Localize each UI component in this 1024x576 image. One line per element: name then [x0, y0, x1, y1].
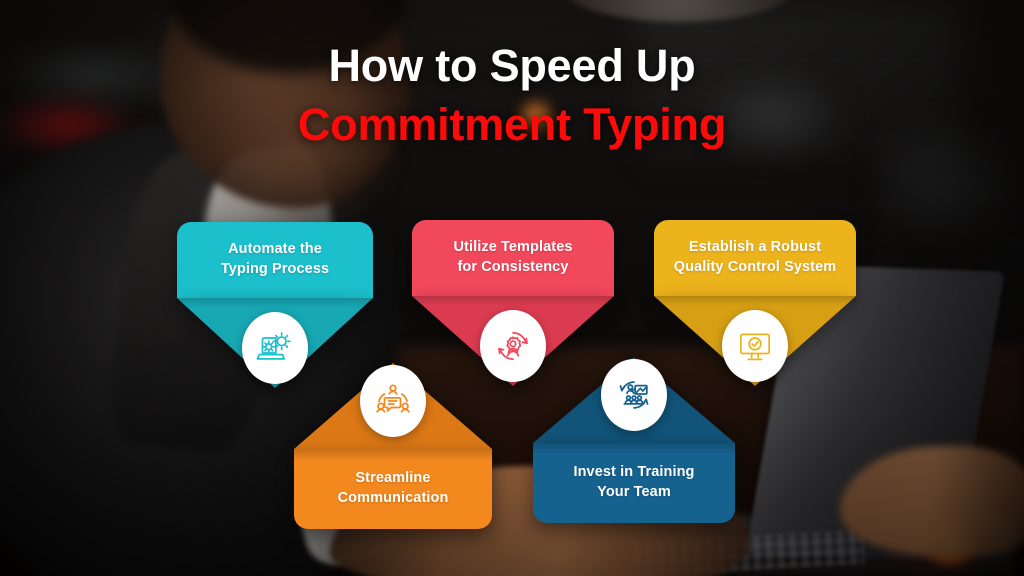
card-automate-typing-label: Automate the Typing Process	[211, 240, 339, 279]
card-quality-control-banner: Establish a Robust Quality Control Syste…	[654, 220, 856, 296]
headline-line-2: Commitment Typing	[0, 101, 1024, 150]
people-chat-icon	[360, 365, 426, 437]
card-streamline-communication-banner: Streamline Communication	[294, 449, 492, 529]
headline: How to Speed Up Commitment Typing	[0, 42, 1024, 149]
card-quality-control-label: Establish a Robust Quality Control Syste…	[664, 238, 847, 277]
infographic-canvas: How to Speed Up Commitment Typing Automa…	[0, 0, 1024, 576]
headline-line-1: How to Speed Up	[0, 42, 1024, 91]
card-utilize-templates-banner: Utilize Templates for Consistency	[412, 220, 614, 296]
card-invest-training-banner: Invest in Training Your Team	[533, 443, 735, 523]
card-utilize-templates-label: Utilize Templates for Consistency	[443, 238, 582, 277]
card-automate-typing-banner: Automate the Typing Process	[177, 222, 373, 298]
card-streamline-communication-label: Streamline Communication	[328, 469, 459, 508]
card-invest-training-label: Invest in Training Your Team	[563, 463, 704, 502]
training-presentation-icon	[601, 359, 667, 431]
